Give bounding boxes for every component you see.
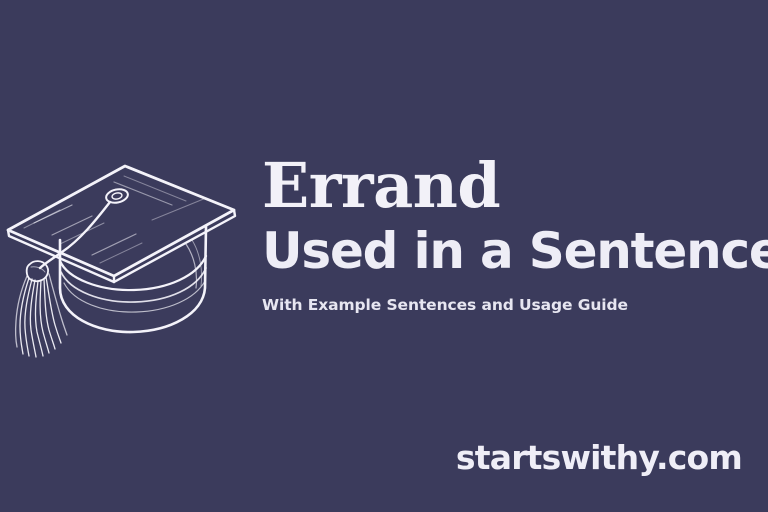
cap-base — [60, 226, 206, 332]
subtitle: With Example Sentences and Usage Guide — [262, 294, 762, 316]
tassel-head — [27, 261, 48, 281]
headline-block: Errand Used in a Sentence With Example S… — [262, 152, 762, 316]
brand-url: startswithy.com — [456, 438, 742, 478]
main-heading: Used in a Sentence — [262, 222, 762, 280]
banner: Errand Used in a Sentence With Example S… — [0, 0, 768, 512]
graduation-cap-illustration — [0, 148, 250, 373]
word-title: Errand — [262, 152, 762, 220]
